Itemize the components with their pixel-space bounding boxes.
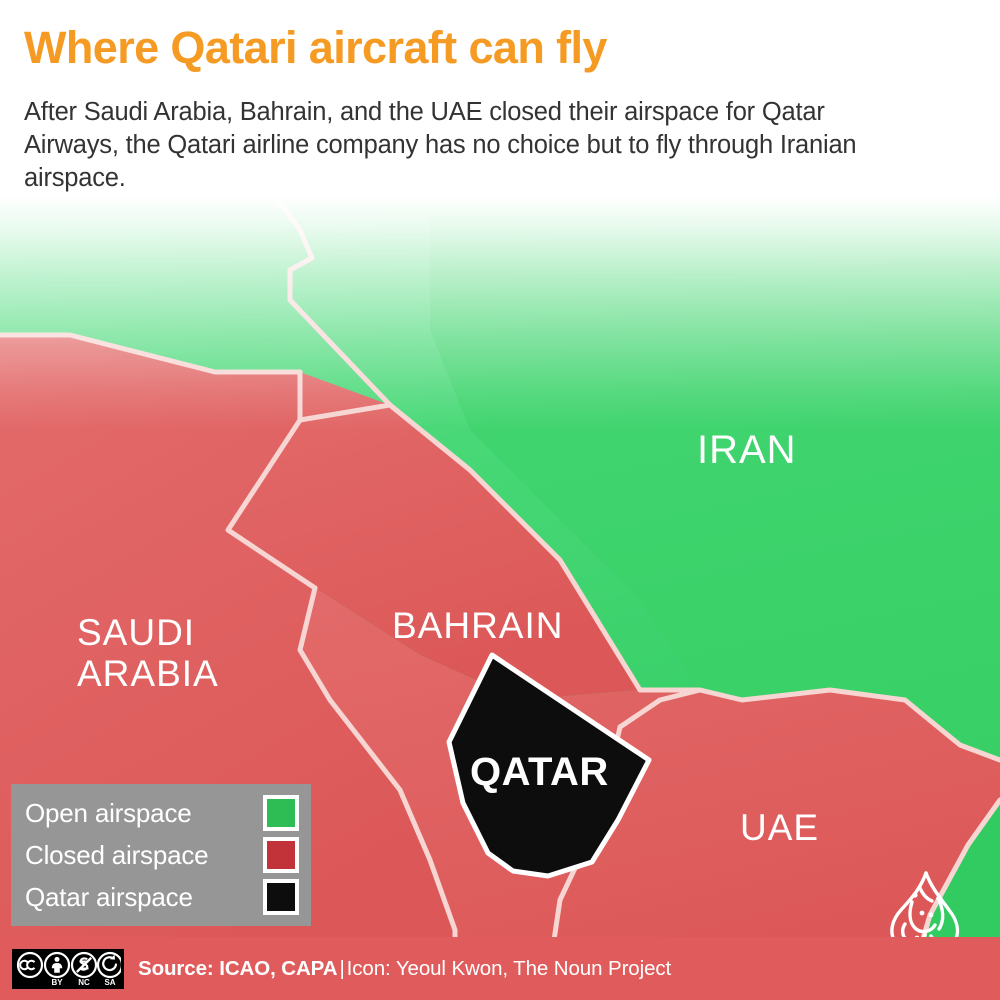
legend-item-closed-airspace: Closed airspace bbox=[25, 835, 299, 875]
legend-swatch-frame-open bbox=[263, 795, 299, 831]
legend-item-open-airspace: Open airspace bbox=[25, 793, 299, 833]
legend-label-closed-airspace: Closed airspace bbox=[25, 840, 208, 871]
page-title: Where Qatari aircraft can fly bbox=[24, 24, 607, 71]
source-attribution: Source: ICAO, CAPA|Icon: Yeoul Kwon, The… bbox=[138, 957, 671, 981]
cc-label-sa: SA bbox=[104, 978, 115, 987]
cc-label-by: BY bbox=[51, 978, 63, 987]
legend-label-qatar-airspace: Qatar airspace bbox=[25, 882, 193, 913]
legend-swatch-frame-closed bbox=[263, 837, 299, 873]
infographic-root: IRAN SAUDI ARABIA BAHRAIN UAE QATAR Wher… bbox=[0, 0, 1000, 1000]
footer-bar: BY NC SA Source: ICAO, CAPA|Icon: Yeoul … bbox=[0, 937, 1000, 1000]
legend-swatch-open-airspace bbox=[267, 799, 295, 827]
cc-label-nc: NC bbox=[78, 978, 90, 987]
legend-swatch-frame-qatar bbox=[263, 879, 299, 915]
source-label: Source: ICAO, CAPA bbox=[138, 957, 337, 980]
legend-label-open-airspace: Open airspace bbox=[25, 798, 192, 829]
legend: Open airspace Closed airspace Qatar airs… bbox=[11, 784, 311, 926]
icon-credit: Icon: Yeoul Kwon, The Noun Project bbox=[347, 957, 671, 980]
legend-swatch-qatar-airspace bbox=[267, 883, 295, 911]
creative-commons-badge: BY NC SA bbox=[12, 949, 124, 989]
legend-item-qatar-airspace: Qatar airspace bbox=[25, 877, 299, 917]
legend-swatch-closed-airspace bbox=[267, 841, 295, 869]
page-subtitle: After Saudi Arabia, Bahrain, and the UAE… bbox=[24, 96, 924, 195]
source-separator: | bbox=[337, 957, 346, 980]
